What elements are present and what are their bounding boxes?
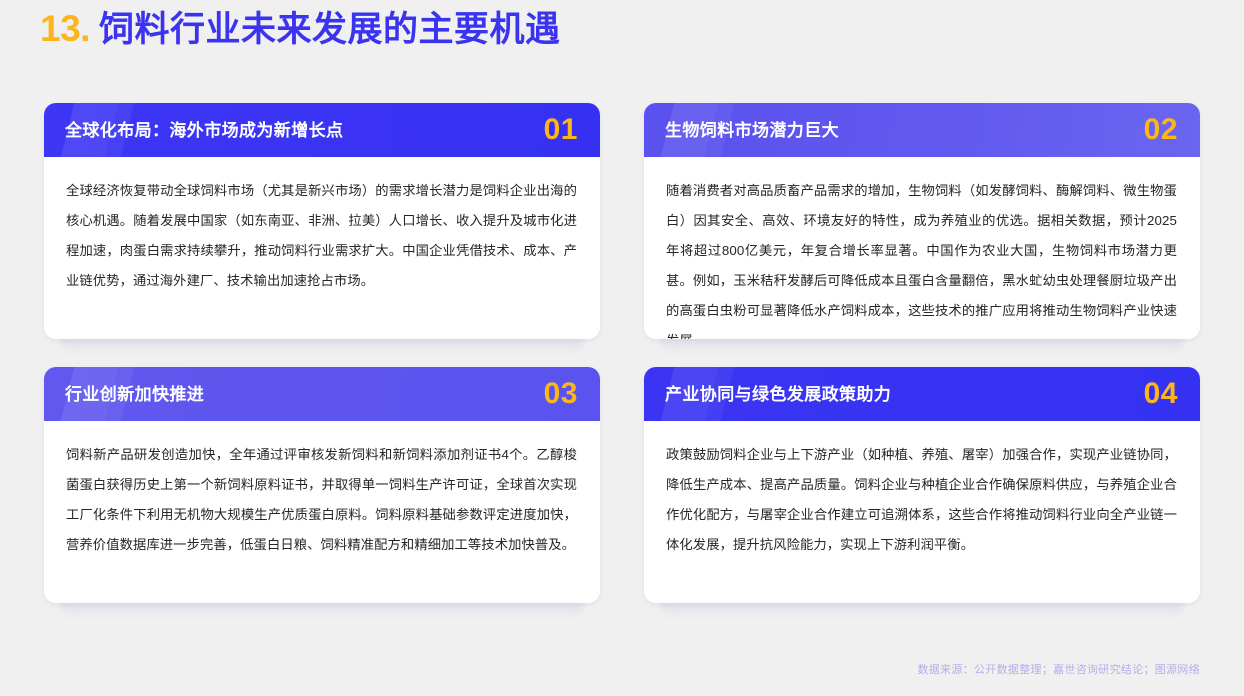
card-number-01: 01	[544, 115, 578, 145]
card-wrap-01: 全球化布局：海外市场成为新增长点 01 全球经济恢复带动全球饲料市场（尤其是新兴…	[44, 103, 600, 339]
card-title-03: 行业创新加快推进	[65, 386, 204, 403]
card-body-04: 政策鼓励饲料企业与上下游产业（如种植、养殖、屠宰）加强合作，实现产业链协同，降低…	[644, 421, 1200, 580]
card-header-04: 产业协同与绿色发展政策助力 04	[644, 367, 1200, 421]
card-title-02: 生物饲料市场潜力巨大	[665, 122, 839, 139]
card-header-02: 生物饲料市场潜力巨大 02	[644, 103, 1200, 157]
page-title-number: 13.	[40, 10, 90, 47]
card-body-01: 全球经济恢复带动全球饲料市场（尤其是新兴市场）的需求增长潜力是饲料企业出海的核心…	[44, 157, 600, 316]
data-source-note: 数据来源：公开数据整理；嘉世咨询研究结论；图源网络	[918, 661, 1201, 677]
card-title-04: 产业协同与绿色发展政策助力	[665, 386, 891, 403]
opportunity-card-04[interactable]: 产业协同与绿色发展政策助力 04 政策鼓励饲料企业与上下游产业（如种植、养殖、屠…	[644, 367, 1200, 603]
card-number-02: 02	[1144, 115, 1178, 145]
card-number-04: 04	[1144, 379, 1178, 409]
card-header-01: 全球化布局：海外市场成为新增长点 01	[44, 103, 600, 157]
opportunity-card-03[interactable]: 行业创新加快推进 03 饲料新产品研发创造加快，全年通过评审核发新饲料和新饲料添…	[44, 367, 600, 603]
card-number-03: 03	[544, 379, 578, 409]
opportunity-card-01[interactable]: 全球化布局：海外市场成为新增长点 01 全球经济恢复带动全球饲料市场（尤其是新兴…	[44, 103, 600, 339]
card-wrap-04: 产业协同与绿色发展政策助力 04 政策鼓励饲料企业与上下游产业（如种植、养殖、屠…	[644, 367, 1200, 603]
card-body-02: 随着消费者对高品质畜产品需求的增加，生物饲料（如发酵饲料、酶解饲料、微生物蛋白）…	[644, 157, 1200, 339]
card-wrap-03: 行业创新加快推进 03 饲料新产品研发创造加快，全年通过评审核发新饲料和新饲料添…	[44, 367, 600, 603]
card-wrap-02: 生物饲料市场潜力巨大 02 随着消费者对高品质畜产品需求的增加，生物饲料（如发酵…	[644, 103, 1200, 339]
page-title-text: 饲料行业未来发展的主要机遇	[99, 12, 561, 47]
card-title-01: 全球化布局：海外市场成为新增长点	[65, 122, 343, 139]
card-header-03: 行业创新加快推进 03	[44, 367, 600, 421]
opportunity-card-02[interactable]: 生物饲料市场潜力巨大 02 随着消费者对高品质畜产品需求的增加，生物饲料（如发酵…	[644, 103, 1200, 339]
page-title: 13. 饲料行业未来发展的主要机遇	[40, 10, 560, 47]
card-body-03: 饲料新产品研发创造加快，全年通过评审核发新饲料和新饲料添加剂证书4个。乙醇梭菌蛋…	[44, 421, 600, 580]
opportunity-card-grid: 全球化布局：海外市场成为新增长点 01 全球经济恢复带动全球饲料市场（尤其是新兴…	[44, 103, 1200, 603]
